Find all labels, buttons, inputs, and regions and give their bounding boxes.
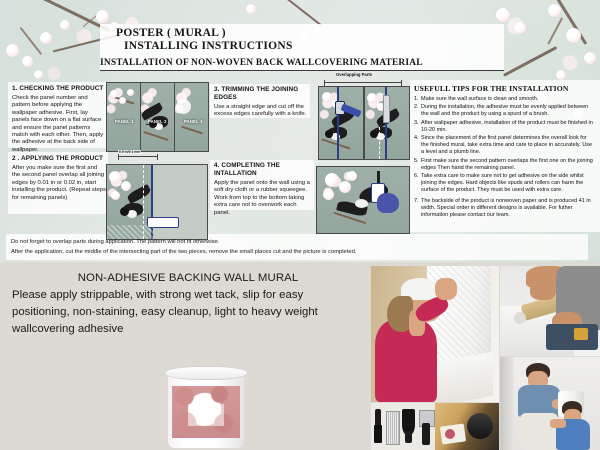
tip-number: 5. bbox=[414, 158, 419, 165]
tip-number: 1. bbox=[414, 96, 419, 103]
trim-frame-left bbox=[318, 86, 364, 160]
step-3: 3. TRIMMING THE JOINING EDGES Use a stra… bbox=[214, 86, 308, 119]
trim-frame-right bbox=[364, 86, 410, 160]
footnote-2: After the application, cut the middle of… bbox=[11, 248, 481, 256]
panel-2-frame: PANEL 2 bbox=[140, 82, 175, 152]
step-4-body: Apply the panel onto the wall using a so… bbox=[214, 180, 312, 217]
step-4: 4. COMPLETING THE INTALLATION Apply the … bbox=[214, 162, 312, 217]
poster-page: POSTER ( MURAL ) INSTALLING INSTRUCTIONS… bbox=[0, 0, 600, 450]
panel-1-frame: PANEL 1 bbox=[106, 82, 141, 152]
poster-title: POSTER ( MURAL ) INSTALLING INSTRUCTIONS bbox=[108, 27, 408, 53]
step-2: 2 . APPLYING THE PRODUCT After you make … bbox=[12, 155, 106, 202]
promo-heading: NON-ADHESIVE BACKING WALL MURAL bbox=[12, 270, 364, 286]
tips-heading: USEFULL TIPS FOR THE INSTALLATION bbox=[414, 84, 594, 93]
tip-item: 2.During the installation, the adhesive … bbox=[414, 104, 594, 118]
installation-tips: USEFULL TIPS FOR THE INSTALLATION 1.Make… bbox=[414, 84, 594, 221]
step-4-illustration bbox=[316, 166, 410, 234]
step-4-heading: 4. COMPLETING THE INTALLATION bbox=[214, 162, 312, 178]
panel-2-label: PANEL 2 bbox=[148, 119, 167, 124]
instruction-sheet: POSTER ( MURAL ) INSTALLING INSTRUCTIONS… bbox=[0, 0, 600, 262]
title-line-2: INSTALLING INSTRUCTIONS bbox=[108, 40, 408, 53]
step-1-heading: 1. CHECKING THE PRODUCT bbox=[12, 85, 106, 93]
tip-number: 2. bbox=[414, 104, 419, 111]
tip-item: 5.First make sure the second pattern ove… bbox=[414, 158, 594, 172]
tip-text: First make sure the second pattern overl… bbox=[421, 158, 593, 171]
tip-item: 3.After wallpaper adhesive, installation… bbox=[414, 120, 594, 134]
dimension-label: 0.5 in/0.1 mm bbox=[118, 150, 141, 154]
tip-number: 6. bbox=[414, 173, 419, 180]
adhesive-bucket-image bbox=[161, 366, 249, 448]
step-3-body: Use a straight edge and cut off the exce… bbox=[214, 104, 308, 119]
photo-hands-with-roller bbox=[500, 266, 600, 356]
glove-icon bbox=[377, 193, 399, 213]
photo-man-and-child bbox=[500, 357, 600, 450]
promo-text: NON-ADHESIVE BACKING WALL MURAL Please a… bbox=[12, 270, 364, 338]
tip-text: Make sure the wall surface is clean and … bbox=[421, 96, 538, 102]
poster-subtitle: INSTALLATION OF NON-WOVEN BACK WALLCOVER… bbox=[100, 58, 504, 71]
tip-text: During the installation, the adhesive mu… bbox=[421, 104, 588, 117]
tip-item: 6.Take extra care to make sure not to ge… bbox=[414, 173, 594, 194]
step-2-body: After you make sure the first and the se… bbox=[12, 165, 106, 202]
tip-number: 4. bbox=[414, 135, 419, 142]
tip-item: 7.The backside of the product is nonwove… bbox=[414, 198, 594, 219]
panel-3-frame: PANEL 3 bbox=[174, 82, 209, 152]
tip-text: The backside of the product is nonwoven … bbox=[421, 198, 591, 218]
step-2-illustration bbox=[106, 164, 208, 240]
panel-3-label: PANEL 3 bbox=[184, 119, 203, 124]
dimension-bar bbox=[118, 156, 158, 157]
tip-number: 3. bbox=[414, 120, 419, 127]
tip-item: 4.Since the placement of the first panel… bbox=[414, 135, 594, 156]
step-1: 1. CHECKING THE PRODUCT Check the panel … bbox=[12, 85, 106, 154]
tip-number: 7. bbox=[414, 198, 419, 205]
step-1-body: Check the panel number and pattern befor… bbox=[12, 95, 106, 154]
knife-icon bbox=[383, 95, 390, 123]
photo-woman-applying-wallpaper bbox=[371, 266, 499, 402]
step-2-heading: 2 . APPLYING THE PRODUCT bbox=[12, 155, 106, 163]
panel-1-label: PANEL 1 bbox=[115, 119, 134, 124]
promo-body: Please apply strippable, with strong wet… bbox=[12, 287, 364, 338]
tip-text: Since the placement of the first panel d… bbox=[421, 135, 592, 155]
tip-item: 1.Make sure the wall surface is clean an… bbox=[414, 96, 594, 103]
tips-list: 1.Make sure the wall surface is clean an… bbox=[414, 96, 594, 219]
tip-text: Take extra care to make sure not to get … bbox=[421, 173, 584, 193]
footnote-1: Do not forget to overlap parts during ap… bbox=[11, 238, 481, 246]
photo-tools-strip bbox=[371, 403, 499, 450]
tip-text: After wallpaper adhesive, installation o… bbox=[421, 120, 593, 133]
footnotes: Do not forget to overlap parts during ap… bbox=[11, 238, 481, 258]
overlap-label: Overlapping Parts bbox=[336, 72, 372, 77]
step-3-heading: 3. TRIMMING THE JOINING EDGES bbox=[214, 86, 308, 102]
overlap-bar bbox=[324, 82, 402, 83]
title-line-1: POSTER ( MURAL ) bbox=[108, 27, 408, 40]
